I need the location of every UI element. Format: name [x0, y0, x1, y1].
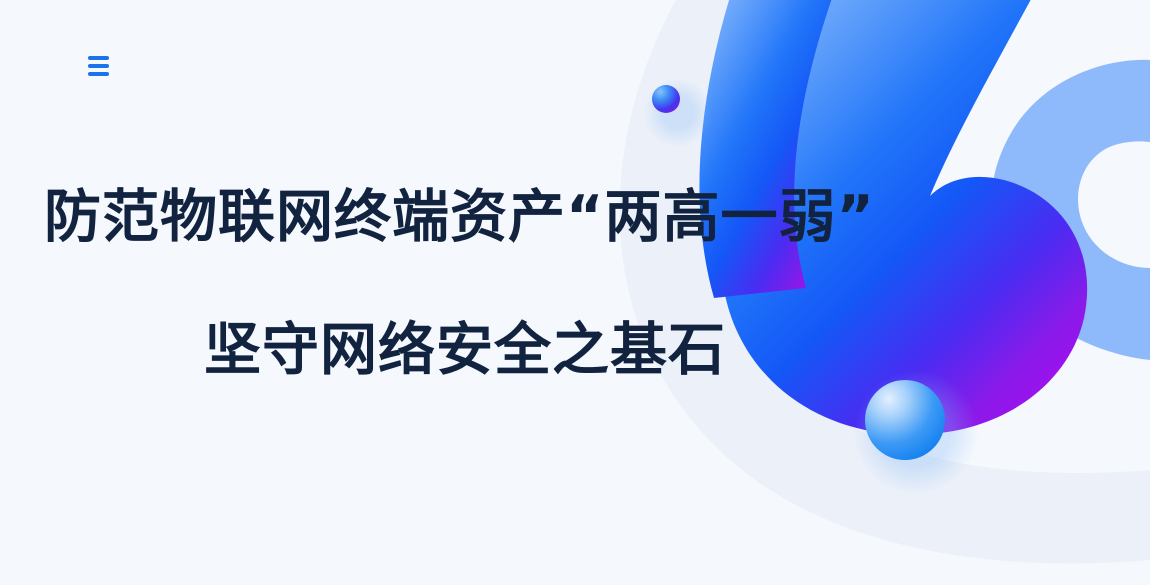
- large-sphere: [854, 370, 978, 494]
- slide-title-line-2: 坚守网络安全之基石: [0, 319, 900, 383]
- slide-title-block: 防范物联网终端资产“两高一弱” 坚守网络安全之基石: [0, 186, 900, 383]
- slide-title-line-1: 防范物联网终端资产“两高一弱”: [0, 186, 900, 250]
- small-sphere: [644, 79, 712, 147]
- hamburger-menu-button[interactable]: [82, 48, 116, 84]
- hamburger-menu-icon-bar-1: [88, 56, 109, 60]
- hamburger-menu-icon-bar-3: [88, 72, 109, 76]
- slide-canvas: 防范物联网终端资产“两高一弱” 坚守网络安全之基石: [0, 0, 1150, 585]
- light-blue-hook: [991, 60, 1150, 360]
- hamburger-menu-icon-bar-2: [88, 64, 109, 68]
